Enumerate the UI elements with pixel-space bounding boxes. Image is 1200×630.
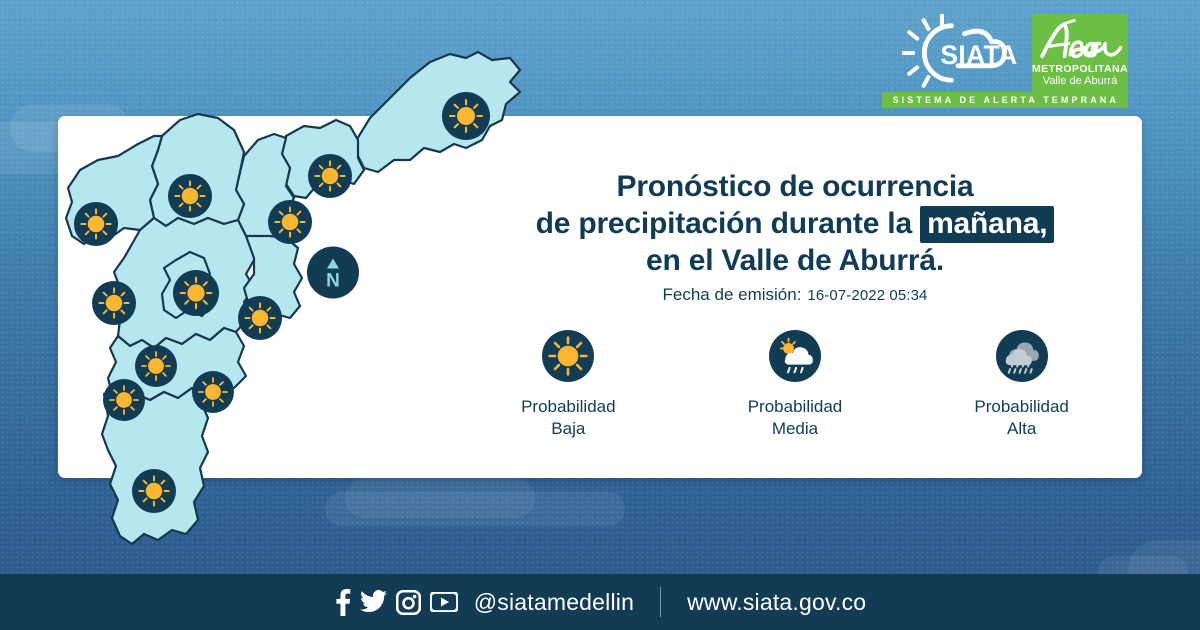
map-marker-caldas[interactable] (132, 469, 176, 513)
compass-north-icon: N (307, 247, 359, 299)
sun-icon (103, 379, 145, 421)
social-handle[interactable]: @siatamedellin (474, 589, 634, 616)
legend-high-line1: Probabilidad (974, 396, 1069, 418)
sun-icon (173, 270, 219, 316)
headline-line-1: Pronóstico de ocurrencia (455, 168, 1135, 205)
area-logo-line1: METROPOLITANA (1032, 64, 1128, 75)
map-marker-sabaneta[interactable] (192, 371, 234, 413)
legend-medium-line2: Media (748, 418, 843, 440)
twitter-icon[interactable] (360, 590, 387, 614)
social-icons (334, 589, 458, 616)
sun-icon (92, 281, 136, 325)
headline-highlight: mañana, (920, 206, 1054, 243)
legend-item-medium: Probabilidad Media (700, 330, 890, 440)
sun-icon (192, 371, 234, 413)
youtube-icon[interactable] (430, 592, 458, 612)
map-container: N (58, 48, 528, 568)
legend-medium-line1: Probabilidad (748, 396, 843, 418)
map-marker-medellin[interactable] (173, 270, 219, 316)
legend-item-high: Probabilidad Alta (927, 330, 1117, 440)
sun-icon (132, 469, 176, 513)
headline-line-2: de precipitación durante la mañana, (455, 205, 1135, 242)
sun-icon (74, 202, 118, 246)
map-marker-occidente[interactable] (92, 281, 136, 325)
tagline-strip: SISTEMA DE ALERTA TEMPRANA (882, 92, 1128, 108)
page-title: Pronóstico de ocurrencia de precipitació… (455, 168, 1135, 279)
map-marker-envigado[interactable] (238, 296, 282, 340)
sun-icon (238, 296, 282, 340)
logo-group: SIATA METROPOLITANA Valle de Aburrá (902, 14, 1128, 94)
map-marker-bello[interactable] (168, 174, 212, 218)
sun-icon (442, 92, 490, 140)
headline-line-2-text: de precipitación durante la (536, 207, 921, 240)
instagram-icon[interactable] (396, 590, 421, 615)
emission-label: Fecha de emisión: (663, 285, 802, 304)
website-url[interactable]: www.siata.gov.co (687, 589, 866, 616)
map-marker-noroeste[interactable] (74, 202, 118, 246)
legend-label-medium: Probabilidad Media (748, 396, 843, 440)
facebook-icon[interactable] (334, 589, 351, 616)
footer-divider (660, 587, 661, 617)
area-script-icon (1038, 16, 1122, 64)
muni-barbosa (354, 52, 520, 172)
legend-low-line2: Baja (521, 418, 616, 440)
sun-icon (268, 200, 312, 244)
headline-line-3: en el Valle de Aburrá. (455, 242, 1135, 279)
compass-label: N (326, 271, 340, 292)
cloud-rain-icon (996, 330, 1048, 382)
sun-icon (542, 330, 594, 382)
legend-high-line2: Alta (974, 418, 1069, 440)
map-marker-girardota[interactable] (308, 154, 352, 198)
sun-icon (168, 174, 212, 218)
area-logo-line2: Valle de Aburrá (1043, 75, 1117, 87)
map-marker-copacabana[interactable] (268, 200, 312, 244)
legend-item-low: Probabilidad Baja (473, 330, 663, 440)
sun-rain-icon (769, 330, 821, 382)
compass-rose: N (307, 247, 359, 304)
map-marker-la-estrella[interactable] (103, 379, 145, 421)
siata-logo-text: SIATA (940, 40, 1017, 70)
infographic-canvas: SIATA METROPOLITANA Valle de Aburrá SIST… (0, 0, 1200, 630)
emission-value: 16-07-2022 05:34 (807, 287, 927, 304)
emission-date: Fecha de emisión:16-07-2022 05:34 (455, 285, 1135, 305)
sun-icon (308, 154, 352, 198)
legend-label-high: Probabilidad Alta (974, 396, 1069, 440)
probability-legend: Probabilidad Baja Probabili (455, 330, 1135, 440)
siata-logo: SIATA (902, 14, 1022, 92)
area-metropolitana-logo: METROPOLITANA Valle de Aburrá (1032, 14, 1128, 94)
legend-label-low: Probabilidad Baja (521, 396, 616, 440)
footer-bar: @siatamedellin www.siata.gov.co (0, 574, 1200, 630)
legend-low-line1: Probabilidad (521, 396, 616, 418)
map-marker-barbosa[interactable] (442, 92, 490, 140)
